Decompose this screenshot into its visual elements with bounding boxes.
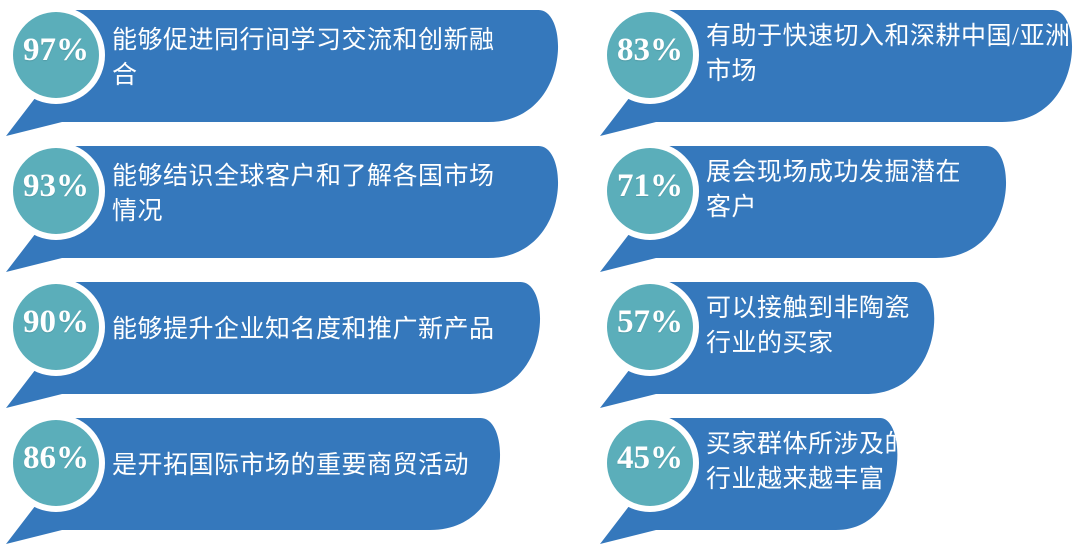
stat-callout: 93%能够结识全球客户和了解各国市场情况 [0,138,560,274]
stat-callout: 71%展会现场成功发掘潜在 客户 [594,138,1080,274]
badge-circle [607,420,693,506]
callout-label: 能够促进同行间学习交流和创新融合 [112,2,512,114]
callout-label: 能够结识全球客户和了解各国市场情况 [112,138,512,250]
callout-label: 买家群体所涉及的 行业越来越丰富 [706,406,1080,518]
stat-callout: 83%有助于快速切入和深耕中国/亚洲 市场 [594,2,1080,138]
badge-circle [13,12,99,98]
stat-callout: 45%买家群体所涉及的 行业越来越丰富 [594,410,1080,546]
stat-callout: 90%能够提升企业知名度和推广新产品 [0,274,560,410]
badge-circle [607,148,693,234]
infographic-canvas: 97%能够促进同行间学习交流和创新融合93%能够结识全球客户和了解各国市场情况9… [0,0,1080,548]
callout-label: 能够提升企业知名度和推广新产品 [112,274,512,386]
badge-circle [13,148,99,234]
callout-label: 展会现场成功发掘潜在 客户 [706,134,1080,246]
badge-circle [607,284,693,370]
callout-label: 有助于快速切入和深耕中国/亚洲 市场 [706,0,1080,110]
stat-callout: 86%是开拓国际市场的重要商贸活动 [0,410,560,546]
callout-label: 可以接触到非陶瓷 行业的买家 [706,270,1080,382]
badge-circle [13,284,99,370]
badge-circle [13,420,99,506]
stat-callout: 57%可以接触到非陶瓷 行业的买家 [594,274,1080,410]
stat-callout: 97%能够促进同行间学习交流和创新融合 [0,2,560,138]
callout-label: 是开拓国际市场的重要商贸活动 [112,410,512,522]
badge-circle [607,12,693,98]
